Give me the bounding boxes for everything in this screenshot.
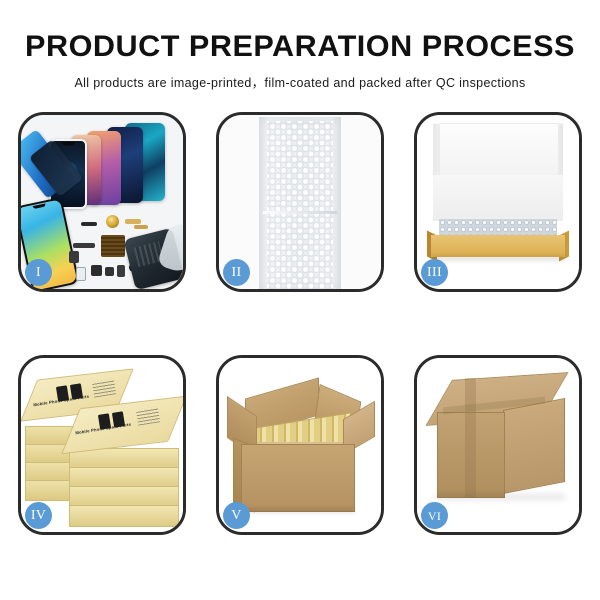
box-art-screen-icon bbox=[98, 413, 111, 430]
spare-part-module-icon bbox=[105, 267, 114, 276]
process-step-card-3: III bbox=[414, 112, 582, 292]
spare-part-ribbon-icon bbox=[73, 243, 95, 248]
step-3-illustration: III bbox=[417, 115, 579, 289]
process-step-grid: I II bbox=[0, 112, 600, 552]
product-preparation-infographic: PRODUCT PREPARATION PROCESS All products… bbox=[0, 0, 600, 600]
process-step-card-4: Mobile Phone Spare Parts Mobile Phone Sp… bbox=[18, 355, 186, 535]
box-art-screen-icon bbox=[112, 411, 125, 428]
box-art-spec-lines bbox=[136, 406, 160, 425]
spare-part-flex-cable-icon bbox=[125, 219, 141, 224]
process-step-card-1: I bbox=[18, 112, 186, 292]
step-badge-2: II bbox=[223, 259, 250, 286]
step-4-illustration: Mobile Phone Spare Parts Mobile Phone Sp… bbox=[21, 358, 183, 532]
pouch-seam-icon bbox=[263, 211, 337, 214]
step-5-illustration: V bbox=[219, 358, 381, 532]
mailer-interior-icon bbox=[433, 175, 563, 221]
spare-part-connector-icon bbox=[69, 251, 79, 263]
page-title: PRODUCT PREPARATION PROCESS bbox=[0, 0, 600, 63]
page-subtitle: All products are image-printed，film-coat… bbox=[0, 63, 600, 91]
process-step-card-2: II bbox=[216, 112, 384, 292]
spare-part-module-icon bbox=[91, 265, 102, 276]
step-badge-1: I bbox=[25, 259, 52, 286]
bubble-pattern-icon bbox=[267, 121, 333, 289]
drop-shadow bbox=[239, 508, 355, 513]
packing-tape-vertical-icon bbox=[465, 378, 476, 498]
step-badge-3: III bbox=[421, 259, 448, 286]
step-badge-6: VI bbox=[421, 502, 448, 529]
box-art-screen-icon bbox=[70, 383, 83, 400]
step-1-illustration: I bbox=[21, 115, 183, 289]
step-badge-5: V bbox=[223, 502, 250, 529]
spare-part-bar-icon bbox=[81, 222, 97, 226]
process-step-card-5: V bbox=[216, 355, 384, 535]
drop-shadow bbox=[435, 494, 565, 500]
carton-front-panel-icon bbox=[241, 444, 355, 512]
spare-part-module-icon bbox=[117, 265, 125, 277]
step-badge-4: IV bbox=[25, 502, 52, 529]
phone-notch-icon bbox=[32, 204, 45, 210]
spare-part-sim-tray-icon bbox=[76, 267, 86, 281]
retail-box-layer bbox=[69, 505, 179, 527]
spare-part-flex-cable-icon bbox=[134, 225, 148, 229]
drop-shadow bbox=[431, 256, 565, 261]
spare-part-ic-chip-icon bbox=[101, 235, 125, 257]
spare-part-speaker-coil-icon bbox=[106, 215, 119, 228]
process-step-card-6: VI bbox=[414, 355, 582, 535]
box-art-spec-lines bbox=[92, 378, 116, 397]
step-2-illustration: II bbox=[219, 115, 381, 289]
step-6-illustration: VI bbox=[417, 358, 579, 532]
phone-notch-icon bbox=[62, 142, 75, 145]
sealed-carton-side-icon bbox=[503, 398, 565, 494]
box-art-screen-icon bbox=[56, 385, 69, 402]
mailer-front-panel-icon bbox=[431, 235, 565, 257]
header: PRODUCT PREPARATION PROCESS All products… bbox=[0, 0, 600, 91]
